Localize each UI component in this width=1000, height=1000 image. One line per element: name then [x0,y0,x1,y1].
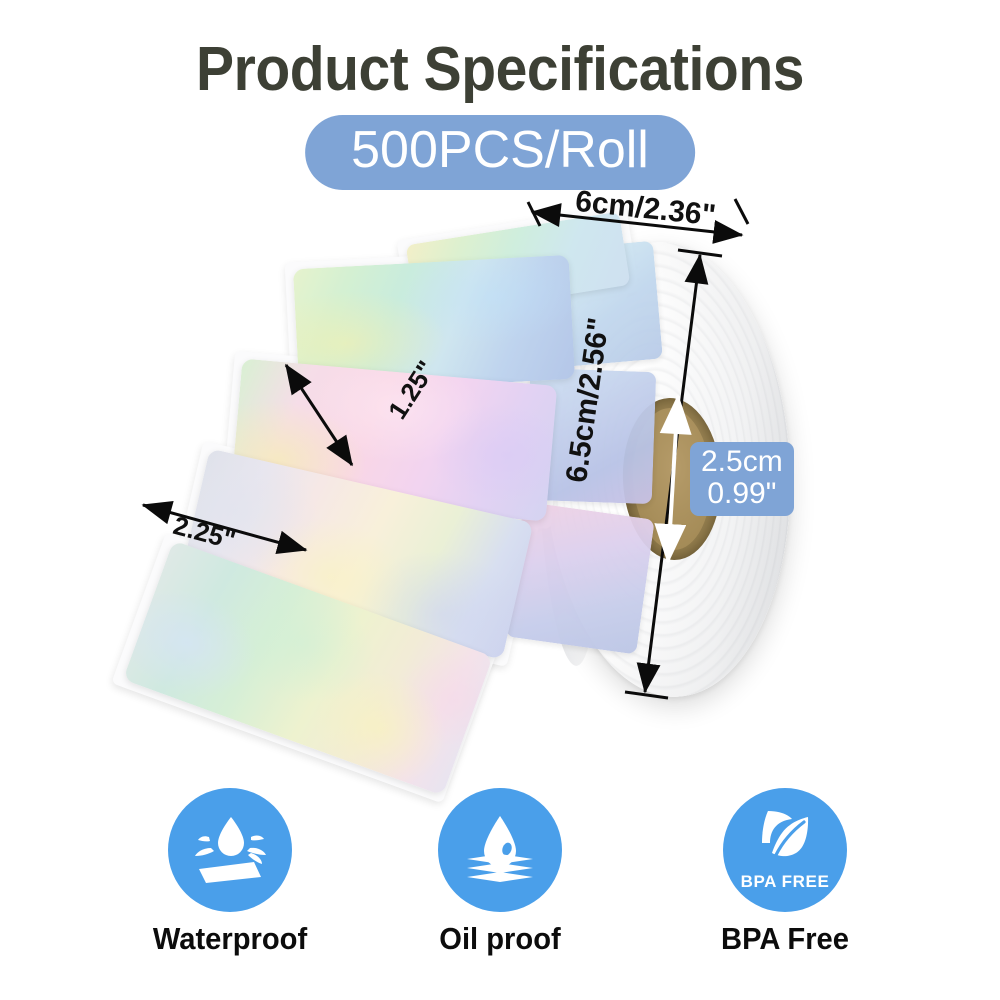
oil-proof-icon [461,813,539,887]
core-dim-line2: 0.99" [701,478,783,510]
feature-label: Oil proof [383,921,618,957]
page-title: Product Specifications [40,34,960,105]
feature-label: BPA Free [668,921,903,957]
product-spec-infographic: Product Specifications 500PCS/Roll [0,0,1000,1000]
product-photo: 6cm/2.36" 6.5cm/2.56" 2.5cm 0.99" 1.25" … [0,180,1000,780]
core-dim-line1: 2.5cm [701,446,783,478]
oil-proof-icon-circle [438,788,562,912]
quantity-badge: 500PCS/Roll [305,115,695,190]
bpa-free-inner-text: BPA FREE [723,872,847,892]
dimension-core-callout: 2.5cm 0.99" [690,442,794,516]
feature-label: Waterproof [113,921,348,957]
dimension-overlay [0,180,1000,780]
feature-bpa-free: BPA FREE BPA Free [660,788,910,957]
feature-waterproof: Waterproof [105,788,355,957]
bpa-free-icon [746,805,824,875]
waterproof-icon [191,813,269,887]
feature-oil-proof: Oil proof [375,788,625,957]
waterproof-icon-circle [168,788,292,912]
feature-list: Waterproof Oil proof [0,788,1000,988]
bpa-free-icon-circle: BPA FREE [723,788,847,912]
